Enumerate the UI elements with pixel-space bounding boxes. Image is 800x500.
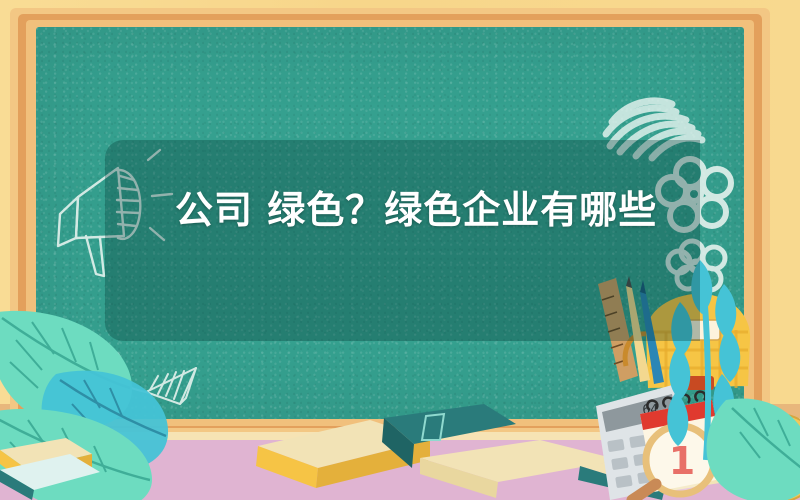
cover-image: 64 1 — [0, 0, 800, 500]
page-title: 公司 绿色？绿色企业有哪些 — [105, 140, 700, 341]
books-left — [0, 430, 230, 500]
leaf-icon — [707, 398, 800, 500]
